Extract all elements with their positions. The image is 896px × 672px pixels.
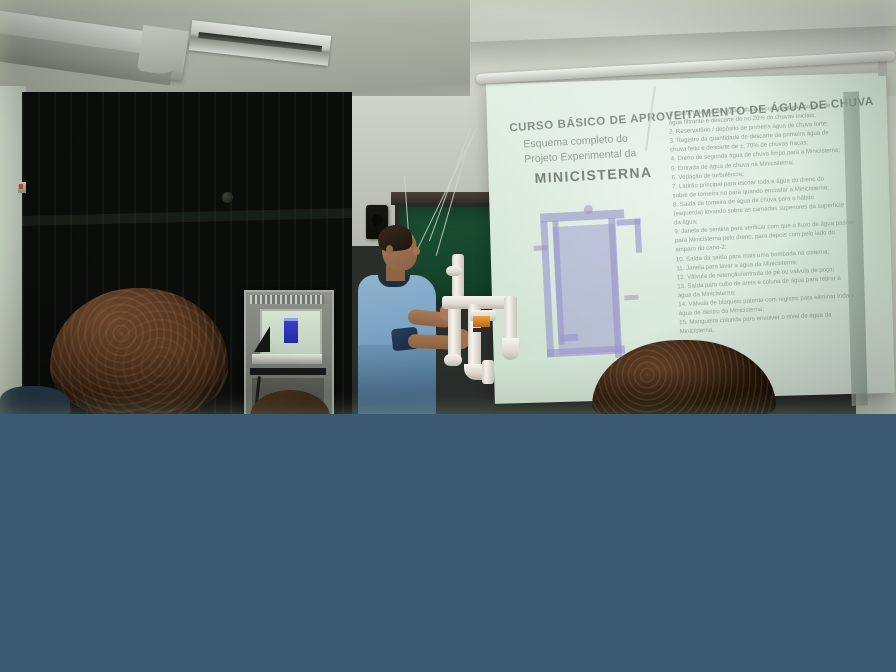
pvc-warning-label [473, 316, 490, 327]
photograph: CURSO BÁSICO DE APROVEITAMENTO DE ÁGUA D… [0, 0, 896, 416]
pvc-riser [504, 296, 517, 344]
rack-vent-panel [250, 295, 324, 304]
diagram-part [540, 221, 554, 357]
pvc-u-bend-leg [482, 360, 494, 384]
diagram-part [634, 218, 642, 252]
fluorescent-tube [198, 32, 322, 52]
page-root: CURSO BÁSICO DE APROVEITAMENTO DE ÁGUA D… [0, 0, 896, 672]
monitor-window [284, 318, 298, 343]
pvc-tee-top [446, 266, 462, 276]
pvc-pipe-assembly [424, 252, 534, 400]
page-background-fill [0, 414, 896, 672]
light-switch-icon [18, 182, 26, 193]
pvc-label-stripe [473, 328, 490, 332]
monitor-base [252, 354, 322, 364]
pvc-vertical-pipe [452, 254, 464, 298]
pvc-elbow [502, 338, 519, 360]
diagram-part [534, 245, 548, 251]
presenter-ear [386, 245, 393, 254]
diagram-part [560, 334, 578, 342]
presenter-hair [377, 223, 414, 252]
pvc-end-cap [444, 354, 462, 366]
audience-shoulder [0, 386, 70, 416]
presenter-nose [413, 247, 420, 255]
wall-knob-icon [222, 192, 233, 203]
rack-crossbar [250, 368, 326, 375]
slide-keyword: MINICISTERNA [534, 164, 653, 186]
diagram-part [624, 295, 638, 301]
